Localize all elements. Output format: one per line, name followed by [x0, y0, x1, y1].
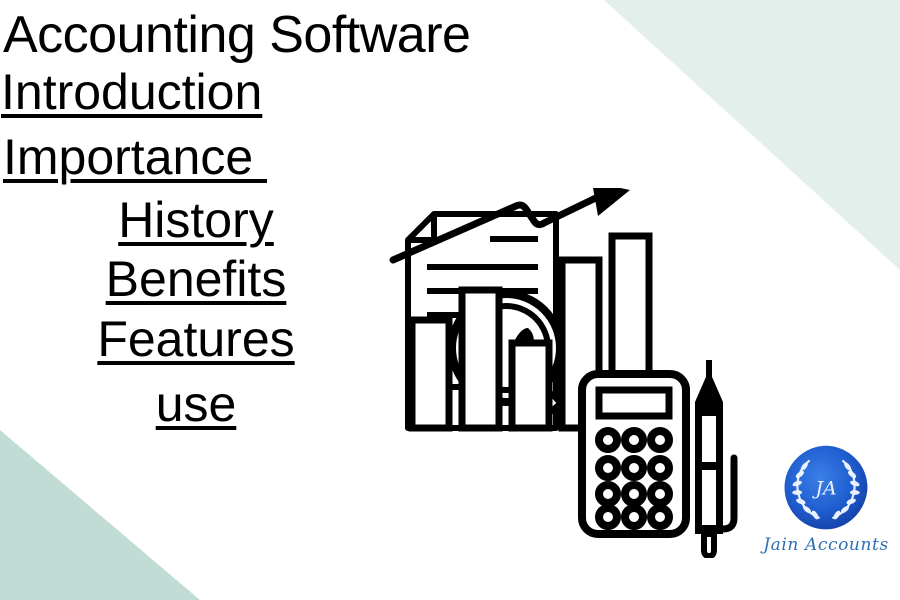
agenda-item-introduction: Introduction	[1, 66, 262, 120]
agenda-item-importance: Importance	[3, 131, 267, 185]
agenda-item-benefits: Benefits	[106, 253, 287, 307]
agenda-item-history: History	[118, 194, 274, 248]
agenda-item-use: use	[156, 378, 237, 432]
accounting-illustration	[386, 188, 756, 558]
calculator-icon	[582, 374, 686, 534]
badge-monogram: JA	[811, 477, 836, 499]
jain-accounts-badge-icon: JA	[781, 443, 871, 533]
calculator-buttons	[599, 431, 669, 526]
slide-canvas: Accounting Software Introduction Importa…	[0, 0, 900, 600]
pen-icon	[695, 360, 734, 556]
calculator-display	[599, 390, 669, 416]
page-title: Accounting Software	[3, 8, 470, 64]
agenda-text-column: Accounting Software Introduction Importa…	[0, 0, 392, 600]
brand-wordmark: Jain Accounts	[763, 535, 889, 555]
pen-clip	[723, 458, 734, 529]
brand-logo: JA Jain Accounts	[752, 443, 900, 591]
agenda-item-features: Features	[97, 313, 294, 367]
